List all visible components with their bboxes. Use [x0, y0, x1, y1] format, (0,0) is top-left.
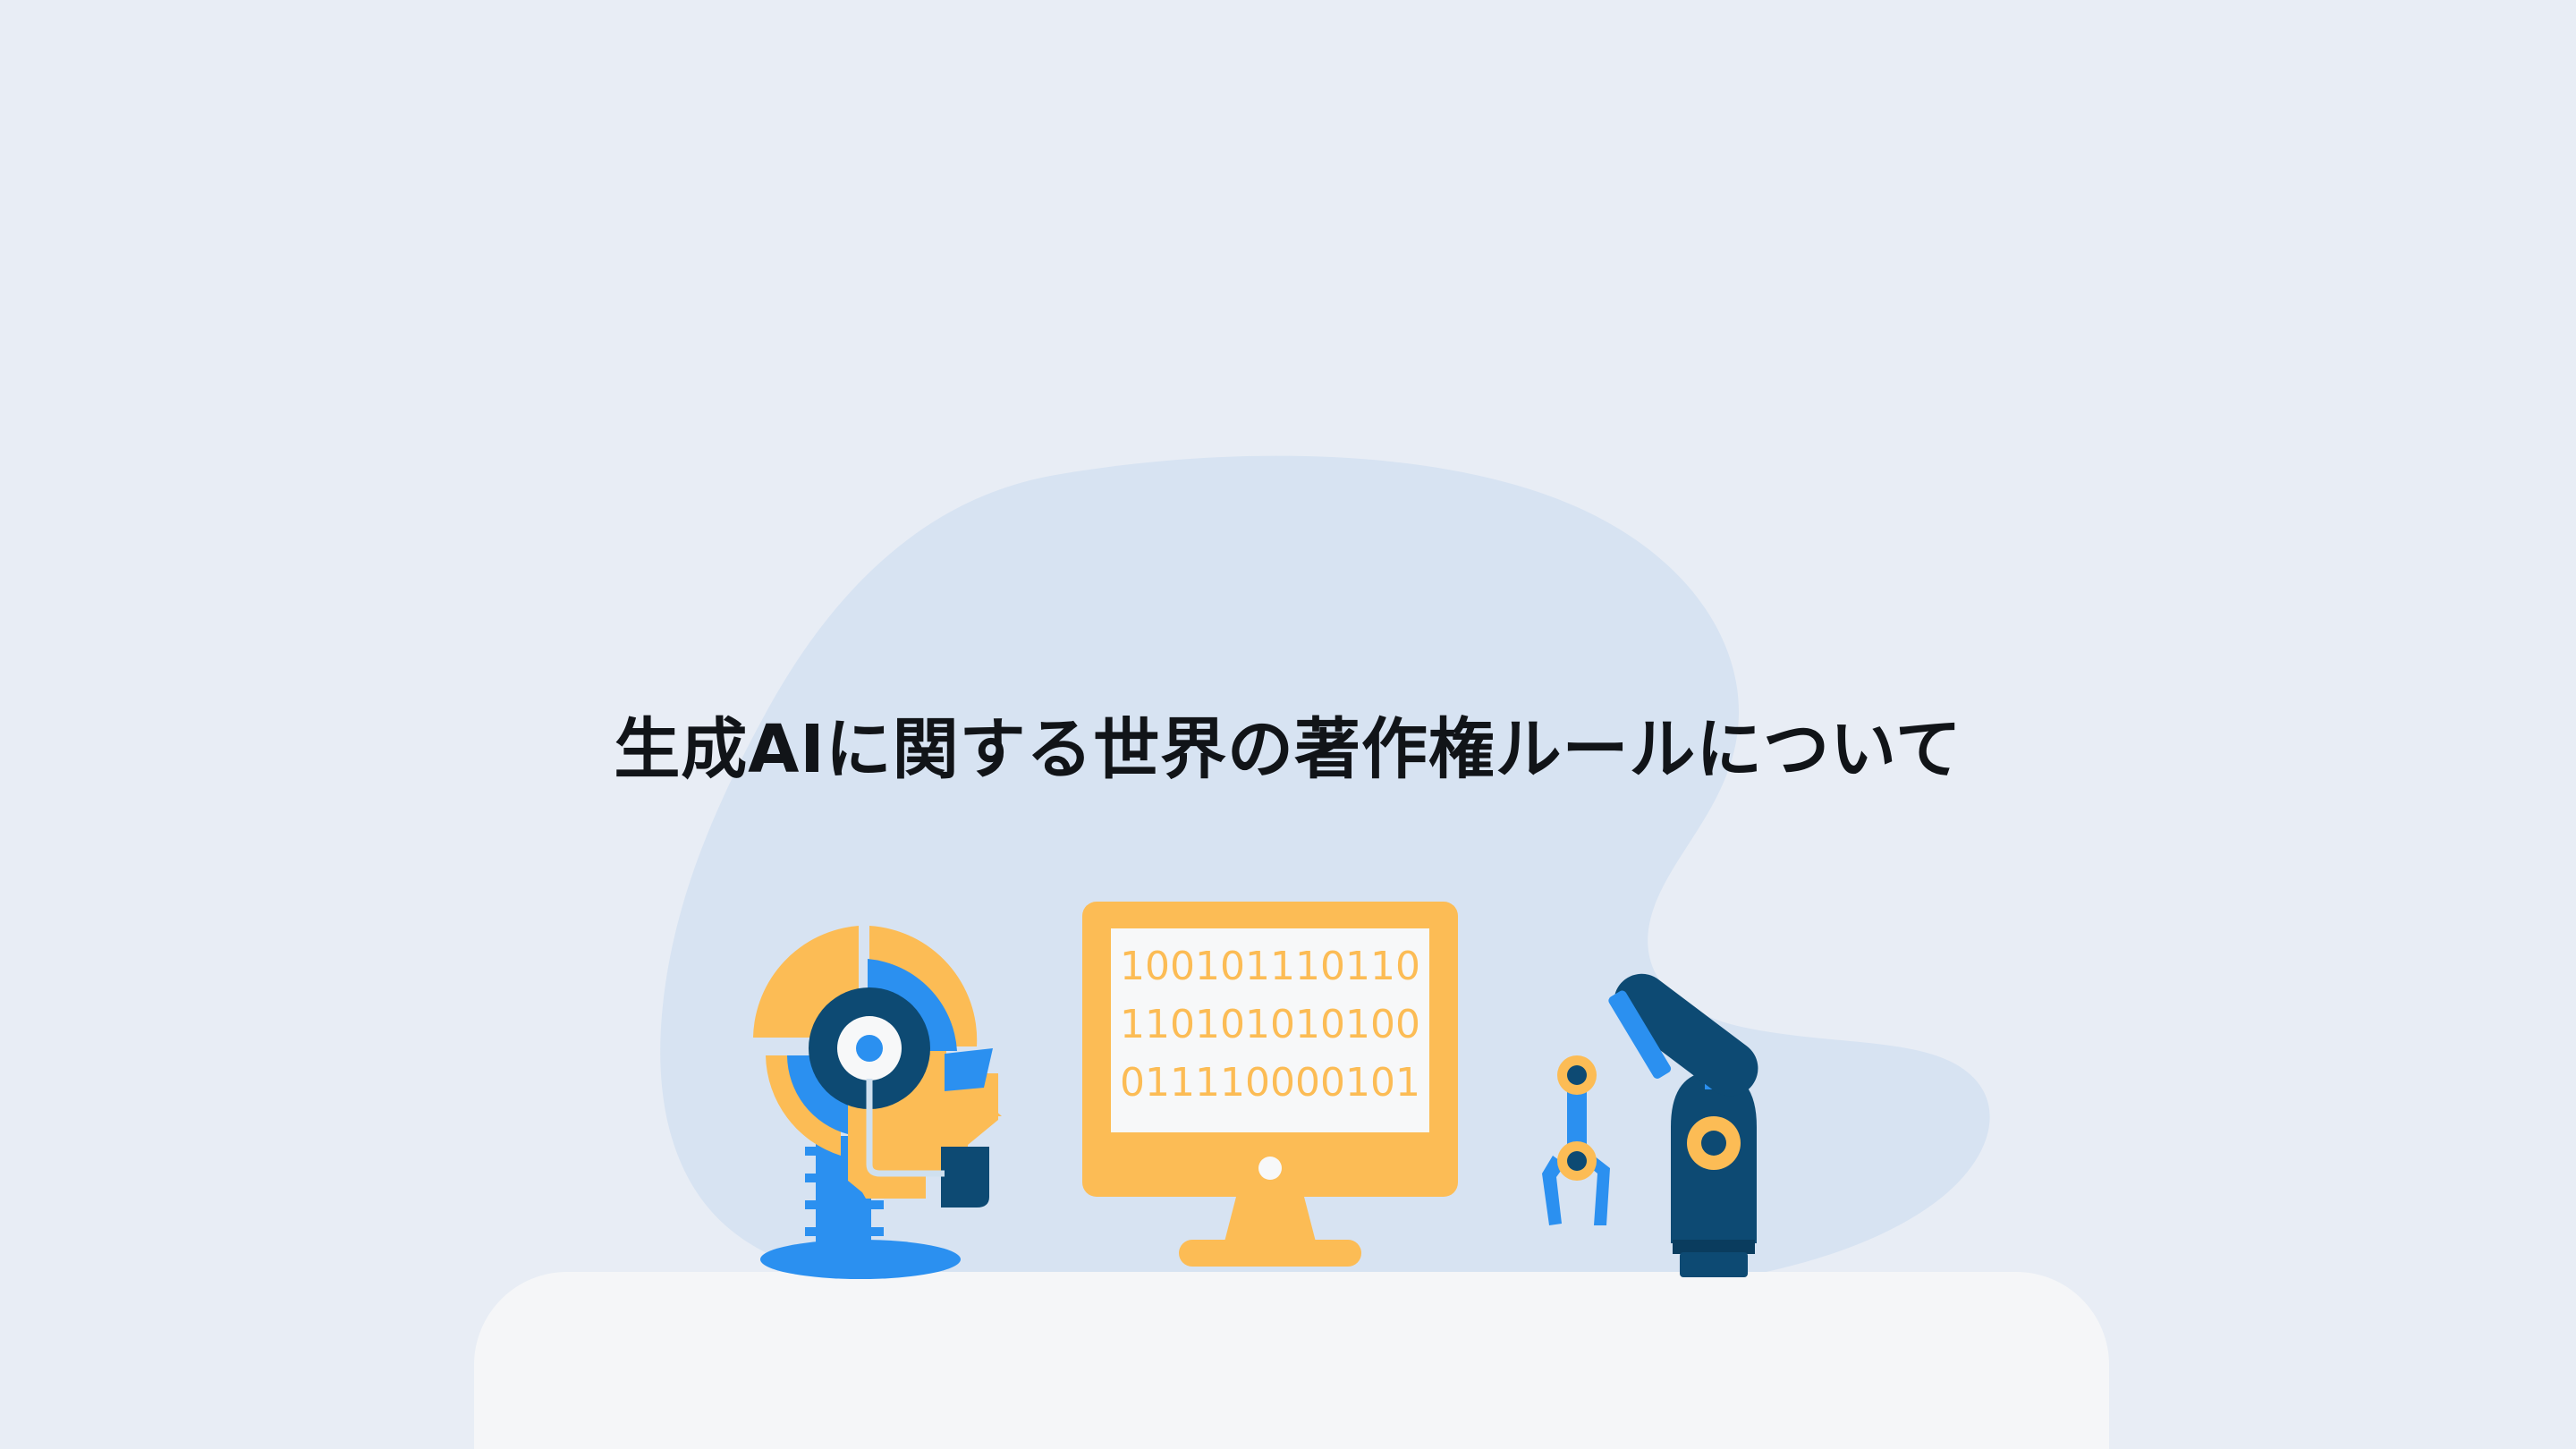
- screen-binary-line-3: 011110000101: [1120, 1060, 1420, 1106]
- screen-binary-line-2: 110101010100: [1120, 1002, 1420, 1047]
- page-title: 生成AIに関する世界の著作権ルールについて: [614, 710, 1962, 790]
- monitor-icon: 100101110110 110101010100 011110000101: [1073, 894, 1467, 1270]
- hero-banner: 生成AIに関する世界の著作権ルールについて: [0, 0, 2576, 1449]
- hero-illustration: 100101110110 110101010100 011110000101: [733, 894, 1860, 1288]
- screen-binary-line-1: 100101110110: [1120, 944, 1420, 989]
- page-title-container: 生成AIに関する世界の著作権ルールについて: [0, 665, 2576, 834]
- robot-head-icon: [733, 912, 1029, 1279]
- robot-arm-icon: [1538, 966, 1807, 1288]
- table-surface-panel: [474, 1272, 2109, 1449]
